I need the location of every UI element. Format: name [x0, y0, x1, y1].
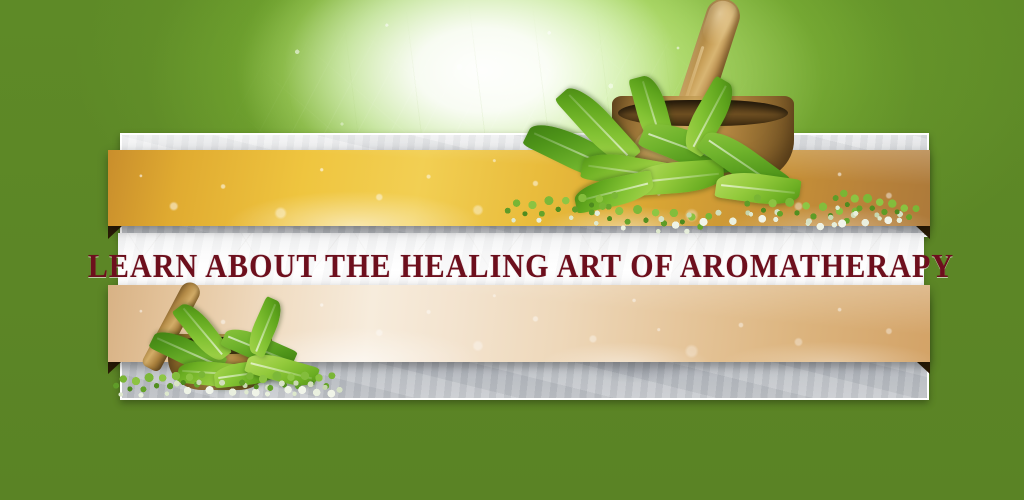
gold-ribbon-top [108, 150, 930, 226]
foam-texture [108, 150, 930, 226]
headline-text: LEARN ABOUT THE HEALING ART OF AROMATHER… [88, 248, 954, 286]
aromatherapy-hero-banner: LEARN ABOUT THE HEALING ART OF AROMATHER… [0, 0, 1024, 500]
page-title: LEARN ABOUT THE HEALING ART OF AROMATHER… [118, 233, 924, 301]
ribbon-fold-bottom-left [108, 362, 121, 374]
ribbon-fold-bottom-right [917, 362, 930, 374]
bubble-texture [108, 150, 930, 226]
